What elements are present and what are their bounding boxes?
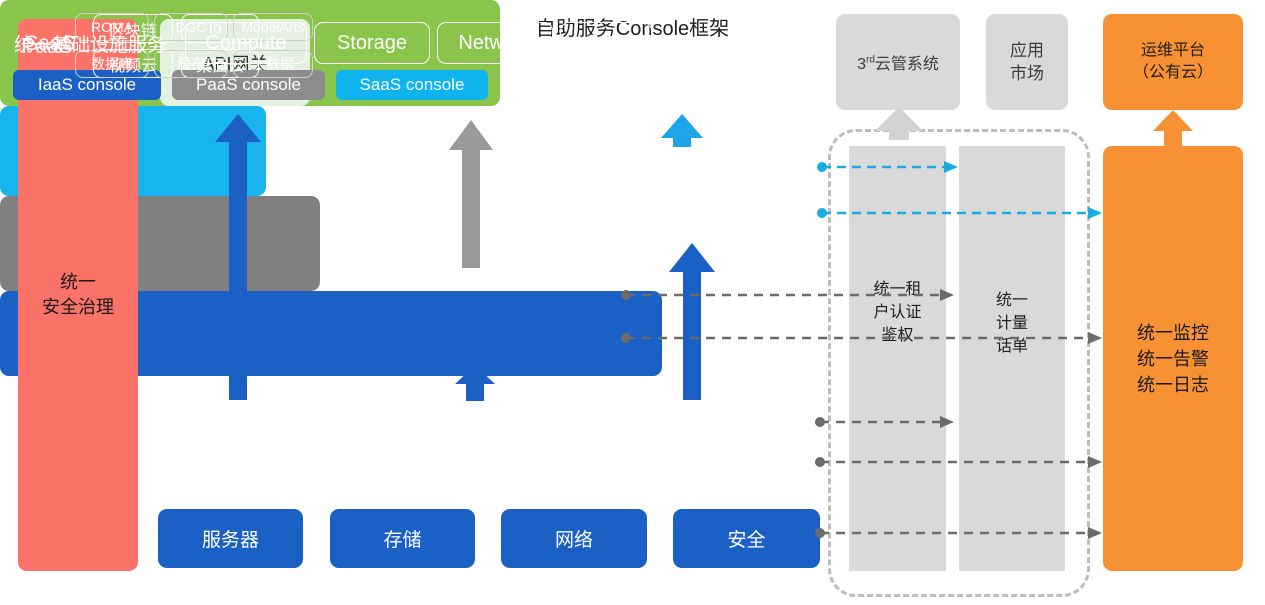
arrow-infra-to-saas	[669, 243, 715, 400]
ops-platform-label: 运维平台 （公有云）	[1133, 40, 1213, 84]
unified-monitoring-label: 统一监控 统一告警 统一日志	[1137, 320, 1209, 398]
hardware-network-box[interactable]: 网络	[501, 509, 647, 568]
infra-chip-storage[interactable]: Storage	[314, 22, 430, 64]
third-party-main: 云管系统	[875, 56, 939, 73]
app-market-label: 应用 市场	[1010, 39, 1044, 85]
infra-chip-network[interactable]: Network	[437, 22, 553, 64]
ops-platform-public-cloud-box: 运维平台 （公有云）	[1103, 14, 1243, 110]
metering-billing-label: 统一 计量 话单	[959, 289, 1065, 358]
third-party-prefix: 3	[857, 56, 866, 73]
hardware-server-box[interactable]: 服务器	[158, 509, 303, 568]
third-party-superscript: rd	[866, 55, 875, 66]
tenant-auth-label: 统一租 户认证 鉴权	[849, 278, 946, 347]
unified-security-governance-panel: 统一 安全治理	[18, 19, 138, 571]
shared-services-dashed-container	[828, 129, 1090, 597]
hardware-security-box[interactable]: 安全	[673, 509, 820, 568]
hardware-storage-box[interactable]: 存储	[330, 509, 475, 568]
third-party-cloud-management-box: 3rd云管系统	[836, 14, 960, 110]
unified-infrastructure-label: 统一基础设施服务	[14, 30, 166, 57]
unified-monitoring-panel: 统一监控 统一告警 统一日志	[1103, 146, 1243, 571]
infra-chip-cce[interactable]: CCE	[560, 22, 652, 64]
arrow-paas-to-console	[449, 120, 493, 268]
app-market-box: 应用 市场	[986, 14, 1068, 110]
architecture-diagram: 统一 安全治理 API网关 自助服务Console框架 IaaS console…	[0, 0, 1265, 605]
saas-console-chip[interactable]: SaaS console	[336, 70, 488, 100]
unified-security-governance-label: 统一 安全治理	[42, 270, 114, 320]
arrow-saas-to-console	[661, 114, 703, 147]
third-party-cloud-management-label: 3rd云管系统	[857, 50, 939, 74]
infra-chip-compute[interactable]: Compute	[185, 22, 307, 64]
arrow-ops-column-to-ops-top	[1153, 110, 1193, 146]
